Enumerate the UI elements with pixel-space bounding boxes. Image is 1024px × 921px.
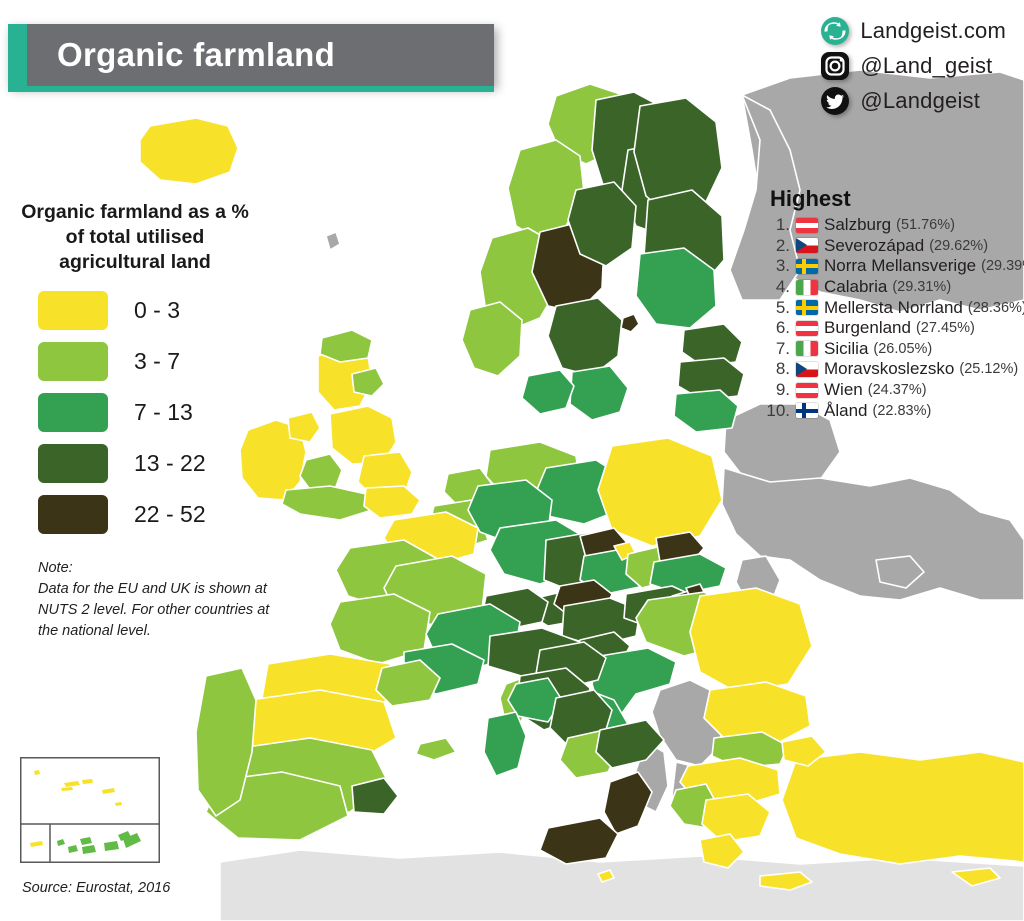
ranking-row: 5. Mellersta Norrland (28.36%) [760,297,1024,318]
sweden-flag [796,259,818,274]
brand-label-twitter: @Landgeist [860,88,980,114]
rank-value: (27.45%) [916,320,975,336]
rank-region-name: Wien [824,380,863,400]
legend-title: Organic farmland as a % of total utilise… [10,200,260,275]
legend-swatch [38,444,108,483]
brand-row-twitter[interactable]: @Landgeist [820,86,980,116]
note-body: Data for the EU and UK is shown at NUTS … [38,581,269,639]
ranking-row: 9. Wien (24.37%) [760,380,1024,401]
title-accent-block [8,24,27,86]
rank-number: 4. [760,277,790,297]
ranking-row: 10. Åland (22.83%) [760,400,1024,421]
ranking-row: 2. Severozápad (29.62%) [760,236,1024,257]
source-credit: Source: Eurostat, 2016 [22,880,170,896]
ranking-title: Highest [770,186,1024,212]
brand-row-instagram[interactable]: @Land_geist [820,51,992,81]
rank-number: 5. [760,298,790,318]
map-note: Note: Data for the EU and UK is shown at… [38,558,278,642]
ranking-row: 8. Moravskoslezsko (25.12%) [760,359,1024,380]
rank-value: (29.31%) [892,279,951,295]
legend-swatch [38,495,108,534]
page-title: Organic farmland [57,36,335,74]
infographic-canvas: .c1{fill:#f7e229} .c2{fill:#8ec63f} .c3{… [0,0,1024,921]
rank-number: 2. [760,236,790,256]
ranking-row: 6. Burgenland (27.45%) [760,318,1024,339]
branding-block: Landgeist.com @Land_geist @Landgeist [820,16,1006,116]
legend-label: 13 - 22 [134,450,206,477]
instagram-icon [820,51,850,81]
region-romania [690,588,812,692]
rank-region-name: Moravskoslezsko [824,359,954,379]
rank-number: 6. [760,318,790,338]
austria-flag [796,218,818,233]
rank-region-name: Severozápad [824,236,924,256]
rank-number: 7. [760,339,790,359]
legend-swatch [38,342,108,381]
legend-row: 3 - 7 [10,342,260,381]
legend-row: 7 - 13 [10,393,260,432]
legend-row: 22 - 52 [10,495,260,534]
map-title-bar: Organic farmland [8,24,494,86]
italy-flag [796,280,818,295]
ranking-row: 1. Salzburg (51.76%) [760,215,1024,236]
rank-region-name: Salzburg [824,215,891,235]
czechia-flag [796,362,818,377]
austria-flag [796,383,818,398]
rank-number: 9. [760,380,790,400]
rank-region-name: Calabria [824,277,887,297]
highest-ranking-list: Highest 1. Salzburg (51.76%) 2. Severozá… [760,186,1024,421]
legend-swatch [38,393,108,432]
legend-row: 13 - 22 [10,444,260,483]
ranking-row: 4. Calabria (29.31%) [760,277,1024,298]
note-heading: Note: [38,558,278,579]
rank-number: 3. [760,256,790,276]
rank-value: (22.83%) [872,403,931,419]
legend-label: 22 - 52 [134,501,206,528]
ranking-row: 3. Norra Mellansverige (29.39%) [760,256,1024,277]
italy-flag [796,341,818,356]
rank-number: 10. [760,401,790,421]
rank-value: (24.37%) [868,382,927,398]
rank-value: (29.62%) [929,238,988,254]
rank-region-name: Norra Mellansverige [824,256,976,276]
ranking-row: 7. Sicilia (26.05%) [760,339,1024,360]
rank-region-name: Burgenland [824,318,911,338]
rank-value: (51.76%) [896,217,955,233]
legend: Organic farmland as a % of total utilise… [10,200,260,546]
legend-swatch [38,291,108,330]
brand-label-website: Landgeist.com [860,18,1006,44]
twitter-icon [820,86,850,116]
globe-icon [820,16,850,46]
legend-label: 0 - 3 [134,297,180,324]
legend-label: 7 - 13 [134,399,193,426]
czechia-flag [796,238,818,253]
rank-region-name: Mellersta Norrland [824,298,963,318]
region-iceland [140,118,238,184]
title-body: Organic farmland [27,24,494,86]
austria-flag [796,321,818,336]
brand-row-website[interactable]: Landgeist.com [820,16,1006,46]
legend-label: 3 - 7 [134,348,180,375]
rank-value: (25.12%) [959,361,1018,377]
rank-region-name: Åland [824,401,867,421]
rank-number: 1. [760,215,790,235]
legend-row: 0 - 3 [10,291,260,330]
rank-value: (28.36%) [968,300,1024,316]
sweden-flag [796,300,818,315]
inset-islands-box [20,757,160,863]
title-underline [8,86,494,92]
rank-region-name: Sicilia [824,339,868,359]
rank-value: (26.05%) [873,341,932,357]
rank-value: (29.39%) [981,258,1024,274]
brand-label-instagram: @Land_geist [860,53,992,79]
finland-flag [796,403,818,418]
rank-number: 8. [760,359,790,379]
